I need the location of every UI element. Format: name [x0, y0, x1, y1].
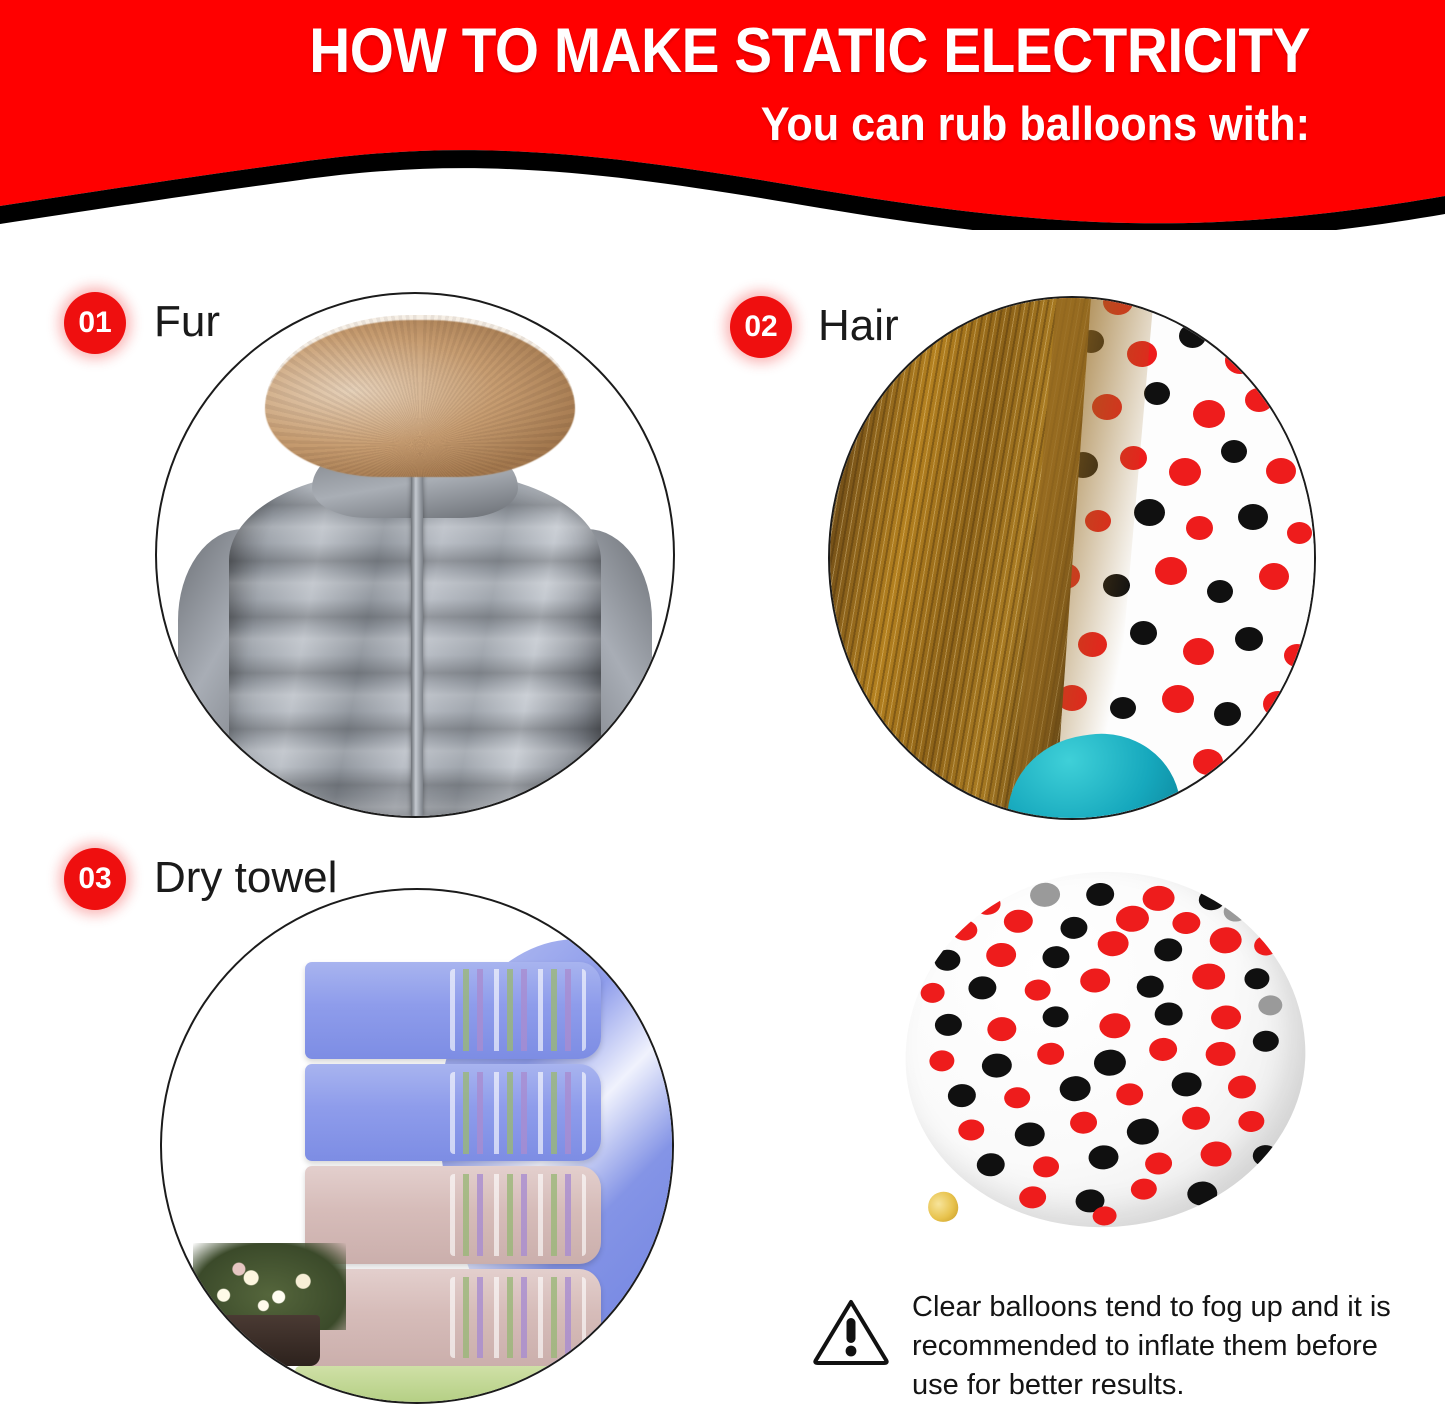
- warning-note: Clear balloons tend to fog up and it is …: [812, 1288, 1412, 1405]
- towel-pink-third: [305, 1166, 601, 1263]
- towel-stack-illustration: [162, 890, 672, 1402]
- balloon-knot: [923, 1187, 962, 1226]
- step-badge-01: 01: [64, 292, 126, 354]
- confetti-balloon-product: [893, 858, 1317, 1240]
- page-title: HOW TO MAKE STATIC ELECTRICITY: [131, 17, 1310, 85]
- photo-fur-jacket: [155, 292, 675, 818]
- towel-stripe-band: [450, 1277, 586, 1359]
- warning-triangle-icon: [812, 1296, 890, 1366]
- towel-stripe-band: [450, 1072, 586, 1154]
- towel-green-edge: [295, 1366, 581, 1404]
- photo-dry-towel: [160, 888, 674, 1404]
- fur-texture: [265, 315, 575, 477]
- hair-balloon-illustration: [830, 298, 1314, 818]
- towel-blue-top: [305, 962, 601, 1059]
- towel-stripe-band: [450, 1174, 586, 1256]
- photo-hair-balloon: [828, 296, 1316, 820]
- step-badge-03: 03: [64, 848, 126, 910]
- step-badge-02: 02: [730, 296, 792, 358]
- flower-pot: [213, 1315, 320, 1366]
- jacket-zipper: [411, 451, 423, 816]
- towel-blue-second: [305, 1064, 601, 1161]
- fur-jacket-illustration: [157, 294, 673, 816]
- towel-stripe-band: [450, 969, 586, 1051]
- header-banner: HOW TO MAKE STATIC ELECTRICITY You can r…: [0, 0, 1445, 230]
- towel-pink-bottom: [305, 1269, 601, 1366]
- page-subtitle: You can rub balloons with:: [105, 98, 1310, 150]
- warning-text: Clear balloons tend to fog up and it is …: [912, 1288, 1412, 1405]
